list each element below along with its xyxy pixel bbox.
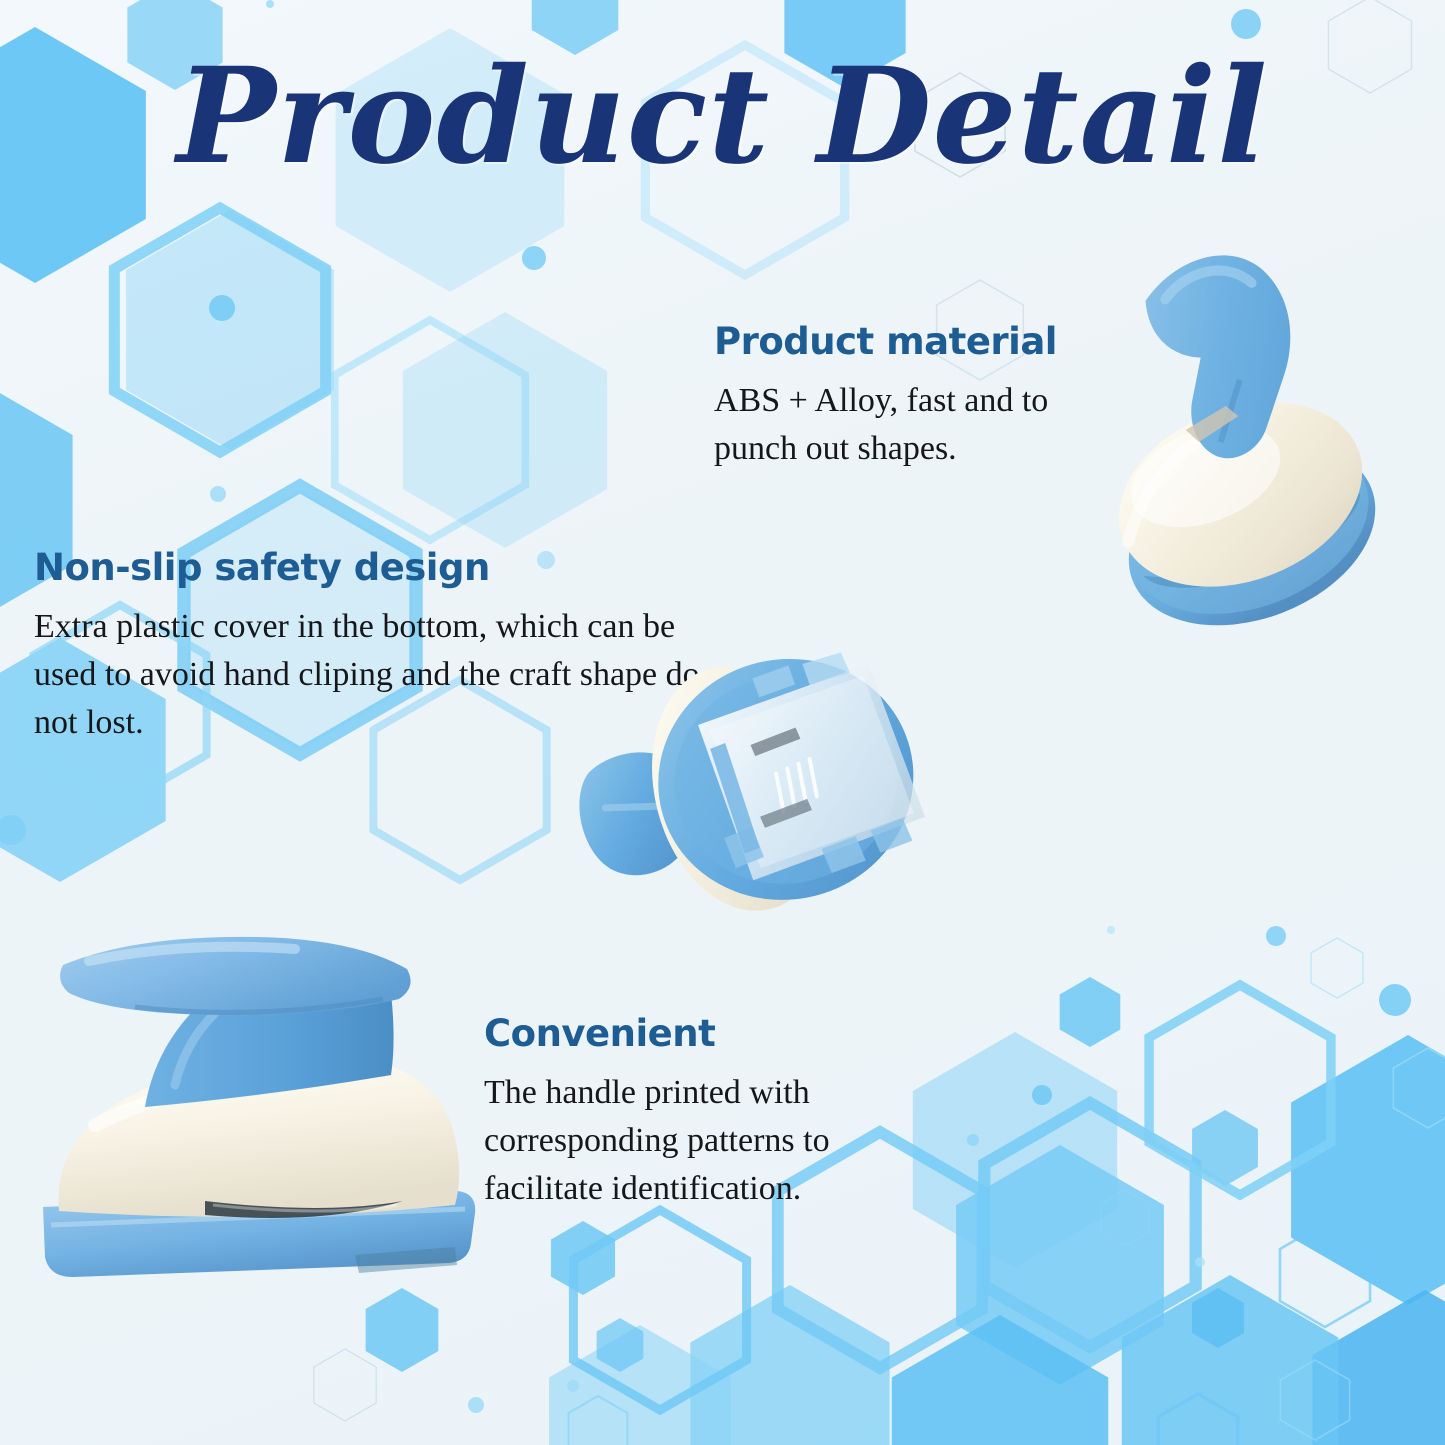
product-photo-punch-angled-top-view — [1045, 235, 1445, 685]
feature-heading-convenient: Convenient — [484, 1014, 914, 1055]
feature-body-convenient: The handle printed with corresponding pa… — [484, 1069, 914, 1214]
product-detail-page: Product Detail Product material ABS + Al… — [0, 0, 1445, 1445]
product-photo-punch-side-profile-view — [25, 925, 495, 1295]
feature-heading-non-slip-safety-design: Non-slip safety design — [34, 548, 714, 589]
hex-cluster-middle — [967, 926, 1411, 1146]
page-title: Product Detail — [0, 48, 1445, 187]
product-photo-punch-underside-view — [565, 615, 995, 955]
feature-block-convenient: Convenient The handle printed with corre… — [484, 1014, 914, 1213]
